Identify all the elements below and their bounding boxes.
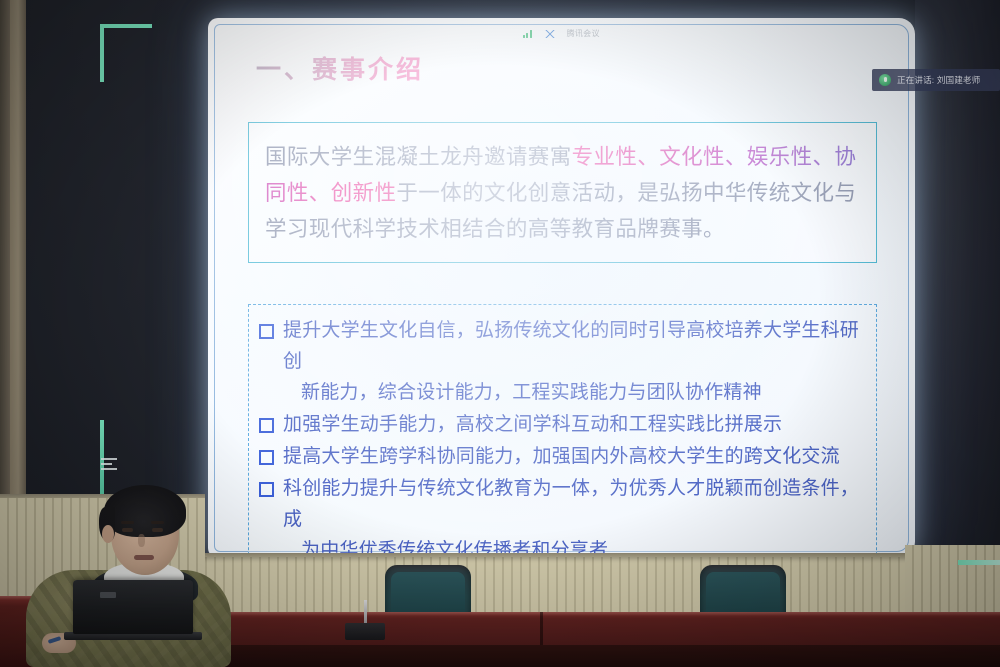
presenter-eyebrow-right	[151, 521, 164, 524]
list-item: 提升大学生文化自信，弘扬传统文化的同时引导高校培养大学生科研创 新能力，综合设计…	[259, 315, 864, 408]
list-item-text: 加强学生动手能力，高校之间学科互动和工程实践比拼展示	[283, 409, 782, 440]
statement-line-1-highlight: 专业性、文化性、娱乐性、协	[572, 145, 857, 170]
wall-left-pilaster-shadow	[0, 0, 10, 505]
statement-line-1: 国际大学生混凝土龙舟邀请赛寓专业性、文化性、娱乐性、协	[265, 140, 860, 176]
conference-room-screenshot: 腾讯会议 一、赛事介绍 国际大学生混凝土龙舟邀请赛寓专业性、文化性、娱乐性、协 …	[0, 0, 1000, 667]
list-item-line-1: 提高大学生跨学科协同能力，加强国内外高校大学生的跨文化交流	[283, 445, 840, 467]
list-item-text: 科创能力提升与传统文化教育为一体，为优秀人才脱颖而创造条件，成 为中华优秀传统文…	[283, 473, 864, 558]
stacked-lines-icon	[101, 458, 117, 474]
presenter-ear	[102, 525, 114, 543]
laptop-computer	[73, 580, 193, 634]
desk-microphone-stem	[364, 600, 367, 625]
presenter-eye-left	[122, 528, 133, 532]
projection-screen-slide: 腾讯会议 一、赛事介绍 国际大学生混凝土龙舟邀请赛寓专业性、文化性、娱乐性、协 …	[208, 18, 915, 558]
presenter-eyebrow-left	[121, 521, 134, 524]
statement-line-1-plain: 国际大学生混凝土龙舟邀请赛寓	[265, 145, 572, 170]
statement-line-2-highlight: 同性、创新性	[265, 181, 396, 206]
list-item-line-1: 科创能力提升与传统文化教育为一体，为优秀人才脱颖而创造条件，成	[283, 477, 859, 530]
statement-line-2-plain: 于一体的文化创意活动，是弘扬中华传统文化与	[396, 181, 856, 206]
square-outline-bullet-icon	[259, 324, 274, 339]
list-item-line-2: 新能力，综合设计能力，工程实践能力与团队协作精神	[283, 377, 864, 408]
laptop-logo	[100, 592, 116, 598]
list-item: 提高大学生跨学科协同能力，加强国内外高校大学生的跨文化交流	[259, 441, 864, 472]
meeting-app-label: 腾讯会议	[567, 28, 600, 39]
presenter-eye-right	[152, 528, 163, 532]
list-item-line-1: 提升大学生文化自信，弘扬传统文化的同时引导高校培养大学生科研创	[283, 319, 859, 372]
corner-bracket-icon	[100, 24, 152, 82]
statement-line-2: 同性、创新性于一体的文化创意活动，是弘扬中华传统文化与	[265, 176, 860, 212]
square-outline-bullet-icon	[259, 450, 274, 465]
microphone-icon	[879, 74, 891, 86]
statement-box: 国际大学生混凝土龙舟邀请赛寓专业性、文化性、娱乐性、协 同性、创新性于一体的文化…	[248, 122, 877, 263]
presenter-nose	[138, 534, 145, 547]
square-outline-bullet-icon	[259, 482, 274, 497]
list-item-text: 提升大学生文化自信，弘扬传统文化的同时引导高校培养大学生科研创 新能力，综合设计…	[283, 315, 864, 408]
signal-bars-icon	[523, 30, 531, 38]
now-speaking-banner: 正在讲话: 刘国建老师	[872, 69, 1000, 91]
presenter-mouth	[134, 555, 154, 560]
bullet-list-box: 提升大学生文化自信，弘扬传统文化的同时引导高校培养大学生科研创 新能力，综合设计…	[248, 304, 877, 558]
list-item: 科创能力提升与传统文化教育为一体，为优秀人才脱颖而创造条件，成 为中华优秀传统文…	[259, 473, 864, 558]
statement-line-3: 学习现代科学技术相结合的高等教育品牌赛事。	[265, 212, 860, 248]
list-item-line-1: 加强学生动手能力，高校之间学科互动和工程实践比拼展示	[283, 413, 782, 435]
now-speaking-text: 正在讲话: 刘国建老师	[897, 74, 980, 86]
meeting-status-bar: 腾讯会议	[208, 28, 915, 39]
desk-microphone-base	[345, 623, 385, 640]
tencent-meeting-logo-icon	[543, 30, 556, 38]
presenter-hair	[104, 485, 186, 537]
slide-title: 一、赛事介绍	[256, 50, 424, 86]
accent-line-icon-bottom-right	[958, 560, 1000, 565]
square-outline-bullet-icon	[259, 418, 274, 433]
list-item: 加强学生动手能力，高校之间学科互动和工程实践比拼展示	[259, 409, 864, 440]
list-item-text: 提高大学生跨学科协同能力，加强国内外高校大学生的跨文化交流	[283, 441, 840, 472]
